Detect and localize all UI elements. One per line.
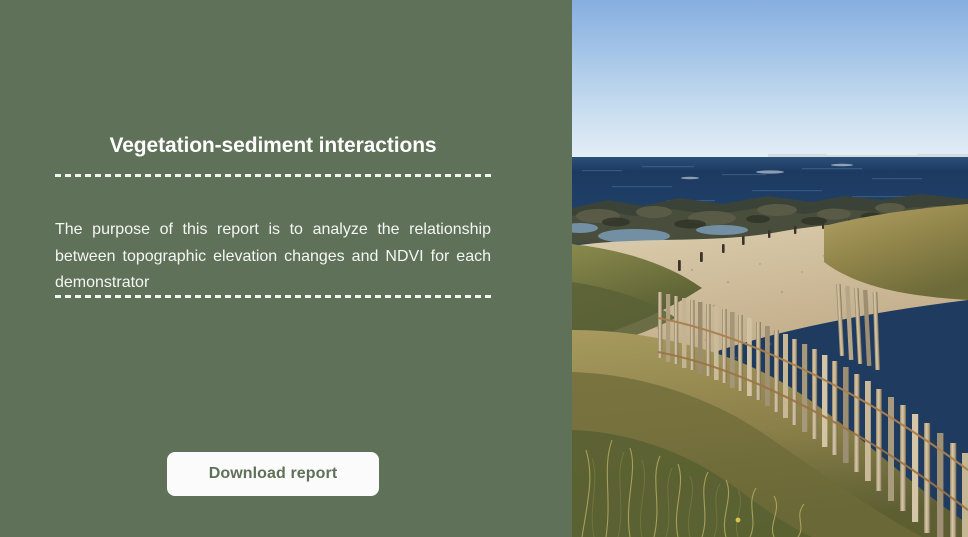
download-report-button[interactable]: Download report — [167, 452, 379, 496]
download-button-container: Download report — [55, 452, 491, 496]
panel-content: Vegetation-sediment interactions The pur… — [55, 0, 491, 537]
wildflower — [736, 518, 741, 523]
page-title: Vegetation-sediment interactions — [55, 132, 491, 160]
divider-bottom — [55, 295, 491, 298]
sky — [572, 0, 968, 158]
text-panel: Vegetation-sediment interactions The pur… — [0, 0, 572, 537]
report-card: Vegetation-sediment interactions The pur… — [0, 0, 968, 537]
divider-top — [55, 174, 491, 177]
coastal-dune-photo — [572, 0, 968, 537]
coastal-dune-illustration — [572, 0, 968, 537]
report-description: The purpose of this report is to analyze… — [55, 217, 491, 297]
